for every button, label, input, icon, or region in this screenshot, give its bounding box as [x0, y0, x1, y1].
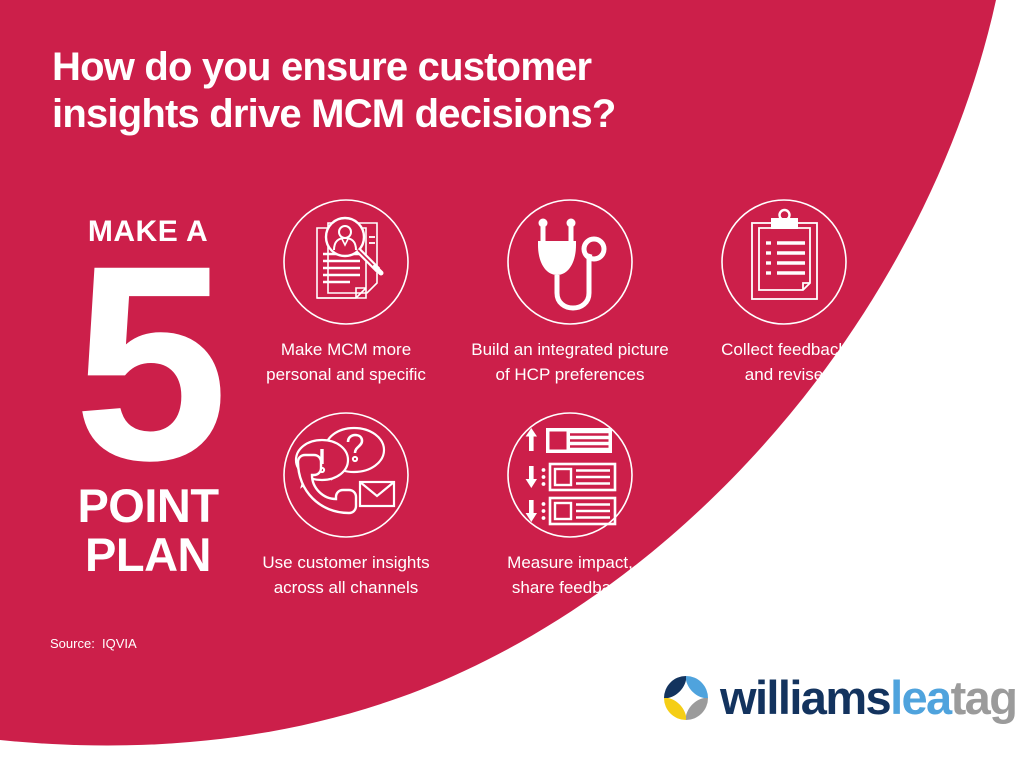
infographic-canvas: How do you ensure customer insights driv… [0, 0, 1024, 768]
plan-item-3: Collect feedback and revise [669, 197, 899, 387]
headline-line-2: insights drive MCM decisions? [52, 91, 752, 138]
plan-item-1-caption: Make MCM more personal and specific [231, 337, 461, 387]
icon-container-1 [231, 197, 461, 327]
plan-point-label: POINT [48, 482, 248, 529]
plan-item-4-caption: Use customer insights across all channel… [231, 550, 461, 600]
clipboard-checklist-icon [719, 197, 849, 327]
plan-number: 5 [48, 250, 248, 475]
stethoscope-icon [505, 197, 635, 327]
caption-line-2: personal and specific [266, 365, 426, 384]
plan-plan-label: PLAN [48, 531, 248, 578]
caption-line-1: Make MCM more [281, 340, 411, 359]
brand-logo: williamsleatag [663, 674, 1016, 721]
ranked-list-arrows-icon [505, 410, 635, 540]
caption-line-1: Use customer insights [262, 553, 429, 572]
four-quadrant-circle-mark-icon [663, 675, 709, 721]
plan-item-4: Use customer insights across all channel… [231, 410, 461, 600]
caption-line-1: Collect feedback [721, 340, 847, 359]
page-title: How do you ensure customer insights driv… [52, 44, 752, 138]
caption-line-2: of HCP preferences [496, 365, 645, 384]
caption-line-2: and revise [745, 365, 823, 384]
caption-line-1: Measure impact, [507, 553, 633, 572]
plan-item-2: Build an integrated picture of HCP prefe… [455, 197, 685, 387]
plan-item-1: Make MCM more personal and specific [231, 197, 461, 387]
plan-item-3-caption: Collect feedback and revise [669, 337, 899, 387]
headline-line-1: How do you ensure customer [52, 45, 591, 89]
source-note: Source: IQVIA [50, 636, 137, 651]
caption-line-2: across all channels [274, 578, 419, 597]
document-magnifier-person-icon [281, 197, 411, 327]
logo-word-lea: lea [890, 671, 951, 724]
plan-item-5-caption: Measure impact, share feedback [455, 550, 685, 600]
logo-word-tag: tag [951, 671, 1017, 724]
icon-container-4 [231, 410, 461, 540]
caption-line-1: Build an integrated picture [471, 340, 669, 359]
icon-container-2 [455, 197, 685, 327]
logo-wordmark: williamsleatag [720, 674, 1016, 721]
plan-item-2-caption: Build an integrated picture of HCP prefe… [455, 337, 685, 387]
logo-word-williams: williams [720, 671, 890, 724]
icon-container-3 [669, 197, 899, 327]
caption-line-2: share feedback [512, 578, 628, 597]
plan-block: MAKE A 5 POINT PLAN [48, 216, 248, 578]
icon-container-5 [455, 410, 685, 540]
phone-speech-bubbles-envelope-icon [281, 410, 411, 540]
plan-item-5: Measure impact, share feedback [455, 410, 685, 600]
